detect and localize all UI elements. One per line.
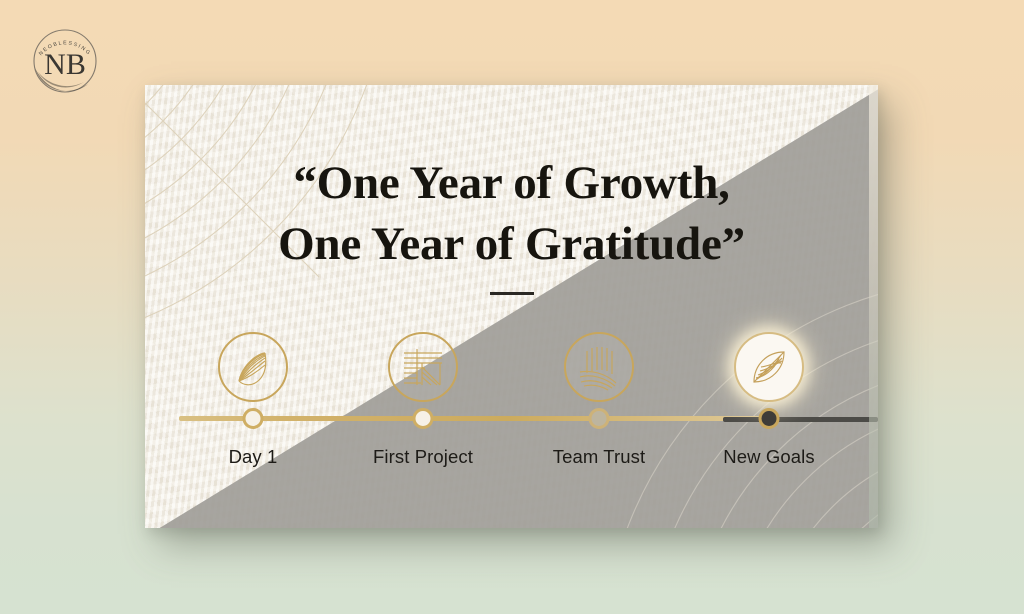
- seed-sprout-icon: [218, 332, 288, 402]
- logo-monogram: NB: [44, 48, 86, 81]
- timeline-rail-upcoming: [723, 417, 878, 422]
- card-edge-highlight: [869, 85, 878, 528]
- milestone-label: Team Trust: [553, 446, 646, 468]
- timeline-node[interactable]: [589, 408, 610, 429]
- timeline-node[interactable]: [413, 408, 434, 429]
- field-rows-icon: [564, 332, 634, 402]
- timeline: Day 1: [145, 85, 878, 528]
- milestone-label: Day 1: [229, 446, 278, 468]
- blueprint-lines-icon: [388, 332, 458, 402]
- timeline-node-active[interactable]: [759, 408, 780, 429]
- presentation-card: “One Year of Growth, One Year of Gratitu…: [145, 85, 878, 528]
- timeline-rail-completed: [179, 416, 779, 421]
- timeline-node[interactable]: [243, 408, 264, 429]
- leaf-icon: [734, 332, 804, 402]
- nb-monogram-logo: NEOBLESSING NB: [22, 16, 108, 104]
- milestone-label: First Project: [373, 446, 473, 468]
- slide-canvas: NEOBLESSING NB: [0, 0, 1024, 614]
- milestone-label: New Goals: [723, 446, 814, 468]
